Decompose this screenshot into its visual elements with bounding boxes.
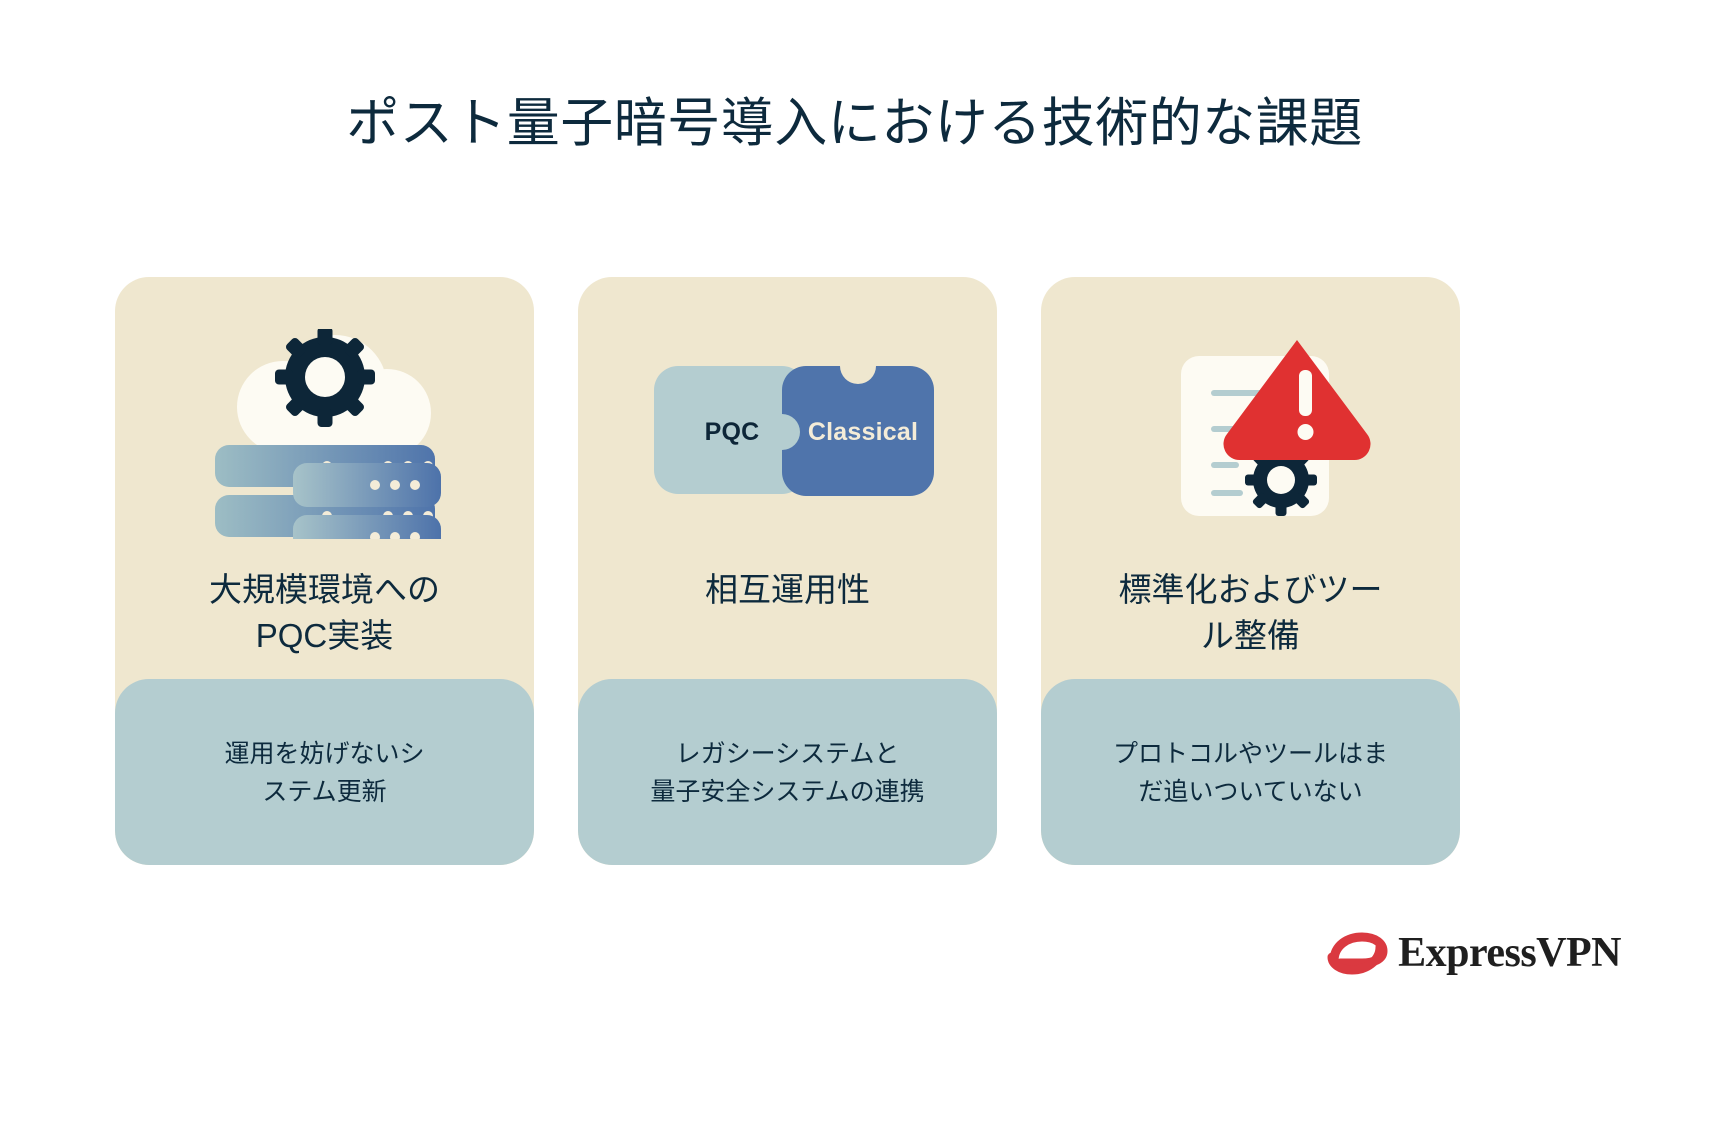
puzzle-right-label: Classical: [807, 418, 917, 446]
card-footer-line-1: プロトコルやツールはま: [1075, 735, 1426, 773]
card-heading-line-1: 大規模環境への: [209, 567, 440, 613]
cloud-servers-gear-icon: [115, 323, 534, 545]
card-footer: レガシーシステムと 量子安全システムの連携: [578, 679, 997, 865]
card-footer-line-2: 量子安全システムの連携: [612, 773, 963, 811]
brand-name: ExpressVPN: [1398, 929, 1621, 977]
card-body: 標準化およびツー ル整備: [1041, 277, 1460, 679]
card-footer-line-1: レガシーシステムと: [612, 735, 963, 773]
card-heading: 相互運用性: [679, 567, 896, 613]
infographic-page: ポスト量子暗号導入における技術的な課題: [0, 0, 1709, 1121]
card-footer: プロトコルやツールはま だ追いついていない: [1041, 679, 1460, 865]
card-footer-line-1: 運用を妨げないシ: [149, 735, 500, 773]
card-heading: 標準化およびツー ル整備: [1093, 567, 1409, 658]
puzzle-pieces-icon: PQC Classical: [578, 323, 997, 545]
puzzle-left-label: PQC: [704, 418, 759, 446]
card-body: 大規模環境への PQC実装: [115, 277, 534, 669]
document-gear-warning-icon: [1041, 323, 1460, 545]
card-footer-line-2: ステム更新: [149, 773, 500, 811]
card-heading: 大規模環境への PQC実装: [183, 567, 466, 658]
card-interoperability: PQC Classical 相互運用性 レガシーシステムと 量子安全システムの連…: [578, 277, 997, 865]
card-heading-line-2: ル整備: [1119, 613, 1383, 659]
page-title: ポスト量子暗号導入における技術的な課題: [0, 92, 1709, 156]
expressvpn-e-logo: [1326, 927, 1388, 979]
card-scaled-pqc-deployment: 大規模環境への PQC実装 運用を妨げないシ ステム更新: [115, 277, 534, 865]
card-heading-line-1: 相互運用性: [705, 567, 870, 613]
card-heading-line-1: 標準化およびツー: [1119, 567, 1383, 613]
card-heading-line-2: PQC実装: [209, 613, 440, 659]
cards-row: 大規模環境への PQC実装 運用を妨げないシ ステム更新 PQC: [115, 277, 1587, 865]
brand-logo: ExpressVPN: [1326, 927, 1621, 979]
card-footer-line-2: だ追いついていない: [1075, 773, 1426, 811]
card-body: PQC Classical 相互運用性: [578, 277, 997, 679]
card-standardization-tooling: 標準化およびツー ル整備 プロトコルやツールはま だ追いついていない: [1041, 277, 1460, 865]
card-footer: 運用を妨げないシ ステム更新: [115, 679, 534, 865]
